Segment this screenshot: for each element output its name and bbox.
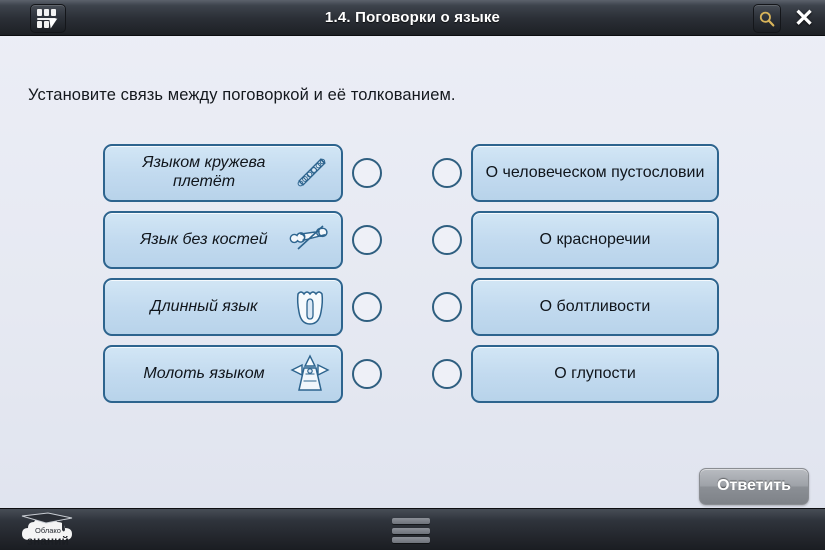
match-row: Язык без костей О красноречии: [0, 207, 825, 274]
proverb-card-2[interactable]: Язык без костей: [103, 211, 343, 269]
task-instruction: Установите связь между поговоркой и её т…: [28, 86, 456, 105]
proverb-label: Длинный язык: [119, 298, 289, 317]
proverb-label: Молоть языком: [119, 365, 289, 384]
meaning-label: О глупости: [554, 364, 636, 384]
connector-dot-right-4[interactable]: [432, 359, 462, 389]
meaning-label: О болтливости: [540, 297, 651, 317]
connector-dot-left-3[interactable]: [352, 292, 382, 322]
footer-bar: Облако знаний: [0, 508, 825, 550]
meaning-label: О красноречии: [540, 230, 651, 250]
search-button[interactable]: [753, 4, 781, 33]
connector-dot-right-3[interactable]: [432, 292, 462, 322]
proverb-card-3[interactable]: Длинный язык: [103, 278, 343, 336]
search-icon: [758, 10, 776, 28]
matching-area: Языком кружева плетёт: [0, 140, 825, 408]
proverb-card-1[interactable]: Языком кружева плетёт: [103, 144, 343, 202]
proverb-label: Языком кружева плетёт: [119, 154, 289, 192]
meaning-card-1[interactable]: О человеческом пустословии: [471, 144, 719, 202]
close-button[interactable]: ✕: [789, 4, 819, 33]
connector-dot-right-1[interactable]: [432, 158, 462, 188]
tongue-icon: [289, 286, 331, 328]
match-row: Длинный язык О болтливости: [0, 274, 825, 341]
meaning-card-2[interactable]: О красноречии: [471, 211, 719, 269]
match-row: Молоть языком: [0, 341, 825, 408]
meaning-card-3[interactable]: О болтливости: [471, 278, 719, 336]
lace-icon: [289, 152, 331, 194]
hamburger-menu-icon[interactable]: [392, 518, 430, 543]
brand-logo[interactable]: Облако знаний: [14, 512, 82, 550]
proverb-card-4[interactable]: Молоть языком: [103, 345, 343, 403]
match-row: Языком кружева плетёт: [0, 140, 825, 207]
windmill-icon: [289, 353, 331, 395]
connector-dot-left-4[interactable]: [352, 359, 382, 389]
close-icon: ✕: [794, 7, 814, 31]
crossed-bone-icon: [289, 219, 331, 261]
connector-dot-left-1[interactable]: [352, 158, 382, 188]
logo-line-2: знаний: [27, 534, 69, 548]
meaning-label: О человеческом пустословии: [486, 163, 705, 183]
page-title: 1.4. Поговорки о языке: [0, 9, 825, 26]
answer-button[interactable]: Ответить: [699, 468, 809, 505]
meaning-card-4[interactable]: О глупости: [471, 345, 719, 403]
connector-dot-right-2[interactable]: [432, 225, 462, 255]
lesson-window: 1.4. Поговорки о языке ✕ Установите связ…: [0, 0, 825, 550]
connector-dot-left-2[interactable]: [352, 225, 382, 255]
title-bar: 1.4. Поговорки о языке ✕: [0, 0, 825, 36]
proverb-label: Язык без костей: [119, 231, 289, 250]
